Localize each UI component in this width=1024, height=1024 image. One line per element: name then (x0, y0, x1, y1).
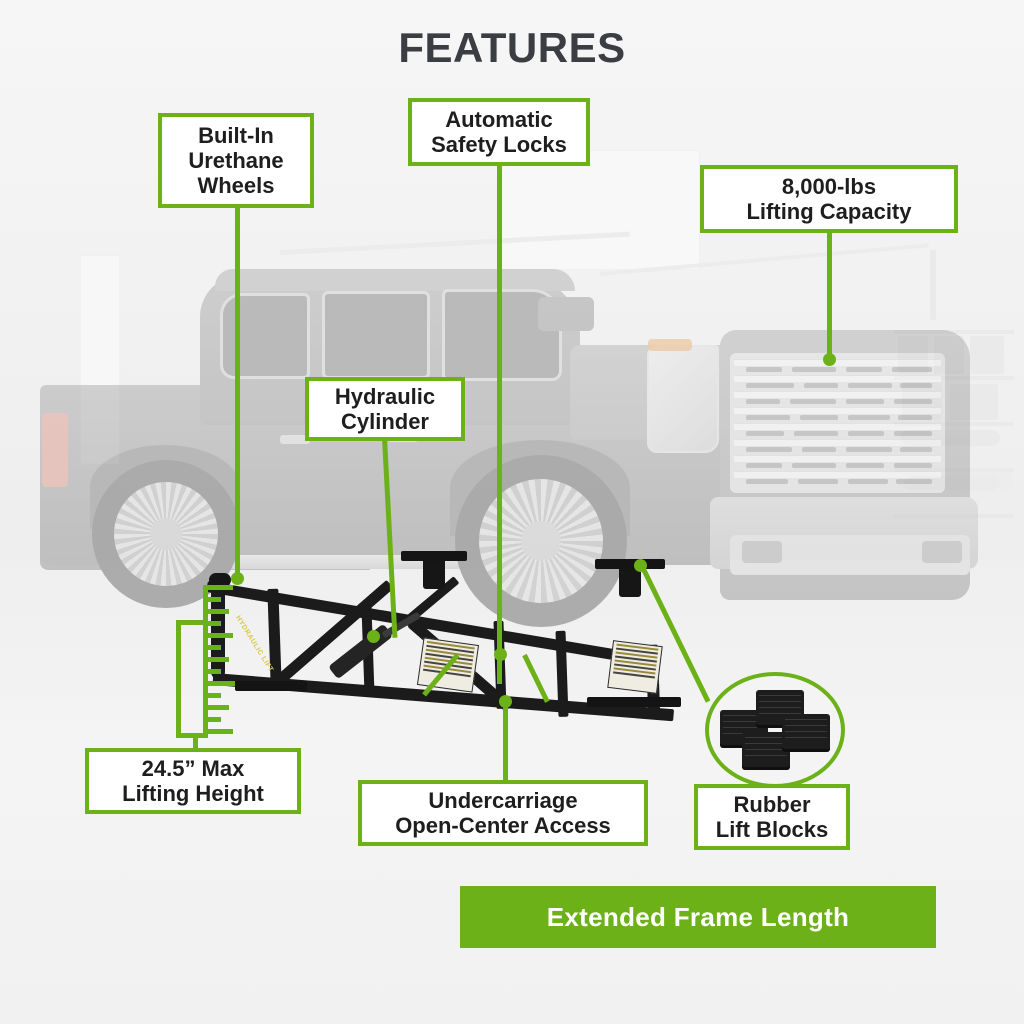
truck-headlight (647, 345, 719, 453)
features-infographic: HYDRAULIC LIFT (0, 0, 1024, 1024)
lifting-height-scale (203, 585, 239, 735)
connector-safety-locks (497, 166, 502, 684)
anchor-dot-undercarriage (499, 695, 512, 708)
callout-hydraulic-cylinder[interactable]: Hydraulic Cylinder (305, 377, 465, 441)
height-dim-bracket-vertical (176, 620, 181, 738)
callout-line: Open-Center Access (395, 813, 611, 838)
scale-tick (203, 633, 233, 638)
height-dim-bracket-top (176, 620, 208, 625)
truck-fog-light-left (742, 541, 782, 563)
scale-tick (203, 657, 229, 662)
callout-undercarriage-open-center-access[interactable]: Undercarriage Open-Center Access (358, 780, 648, 846)
vehicle-lift: HYDRAULIC LIFT (195, 545, 675, 725)
callout-line: Safety Locks (431, 132, 567, 157)
scale-tick (203, 645, 221, 650)
lift-pad-right-top (595, 559, 665, 569)
anchor-dot-hydraulic-cylinder (367, 630, 380, 643)
lift-foot-left (235, 681, 307, 691)
anchor-dot-lifting-capacity (823, 353, 836, 366)
scale-tick (203, 693, 221, 698)
callout-line: Lifting Capacity (746, 199, 911, 224)
truck-side-mirror (538, 297, 594, 331)
callout-line: 8,000-lbs (746, 174, 911, 199)
scale-tick (203, 585, 233, 590)
callout-line: Undercarriage (395, 788, 611, 813)
lift-foot-right (587, 697, 681, 707)
callout-line: Built-In (188, 123, 283, 148)
truck-fog-light-right (922, 541, 962, 563)
callout-line: Hydraulic (335, 384, 435, 409)
scale-tick (203, 609, 229, 614)
height-dim-bracket-bottom (176, 733, 208, 738)
callout-line: Cylinder (335, 409, 435, 434)
lift-warning-label-right (607, 640, 662, 694)
scale-tick (203, 597, 221, 602)
truck-tail-light (42, 413, 68, 487)
connector-undercarriage (503, 700, 508, 780)
truck-roof (215, 269, 575, 291)
callout-automatic-safety-locks[interactable]: Automatic Safety Locks (408, 98, 590, 166)
callout-max-lifting-height[interactable]: 24.5” Max Lifting Height (85, 748, 301, 814)
scale-tick (203, 669, 221, 674)
callout-built-in-urethane-wheels[interactable]: Built-In Urethane Wheels (158, 113, 314, 208)
rubber-lift-blocks-detail (705, 672, 845, 788)
callout-line: Lift Blocks (716, 817, 828, 842)
callout-lifting-capacity[interactable]: 8,000-lbs Lifting Capacity (700, 165, 958, 233)
banner-label: Extended Frame Length (547, 902, 849, 933)
anchor-dot-urethane-wheels (231, 572, 244, 585)
callout-line: Automatic (431, 107, 567, 132)
callout-rubber-lift-blocks[interactable]: Rubber Lift Blocks (694, 784, 850, 850)
extended-frame-length-banner[interactable]: Extended Frame Length (460, 886, 936, 948)
truck-turn-signal (648, 339, 692, 351)
truck-rear-door-window (322, 291, 430, 379)
connector-lifting-capacity (827, 232, 832, 360)
rubber-block (782, 714, 830, 752)
scale-tick (203, 717, 221, 722)
callout-line: Lifting Height (122, 781, 264, 806)
scale-tick (203, 681, 235, 686)
truck-rear-window (220, 293, 310, 379)
callout-line: Rubber (716, 792, 828, 817)
anchor-dot-safety-locks (494, 648, 507, 661)
callout-line: Urethane (188, 148, 283, 173)
connector-urethane-wheels (235, 207, 240, 579)
callout-line: Wheels (188, 173, 283, 198)
truck-grille (730, 353, 945, 493)
scale-tick (203, 705, 229, 710)
lift-pad-left-top (401, 551, 467, 561)
anchor-dot-rubber-blocks (634, 559, 647, 572)
page-title: FEATURES (0, 24, 1024, 72)
callout-line: 24.5” Max (122, 756, 264, 781)
